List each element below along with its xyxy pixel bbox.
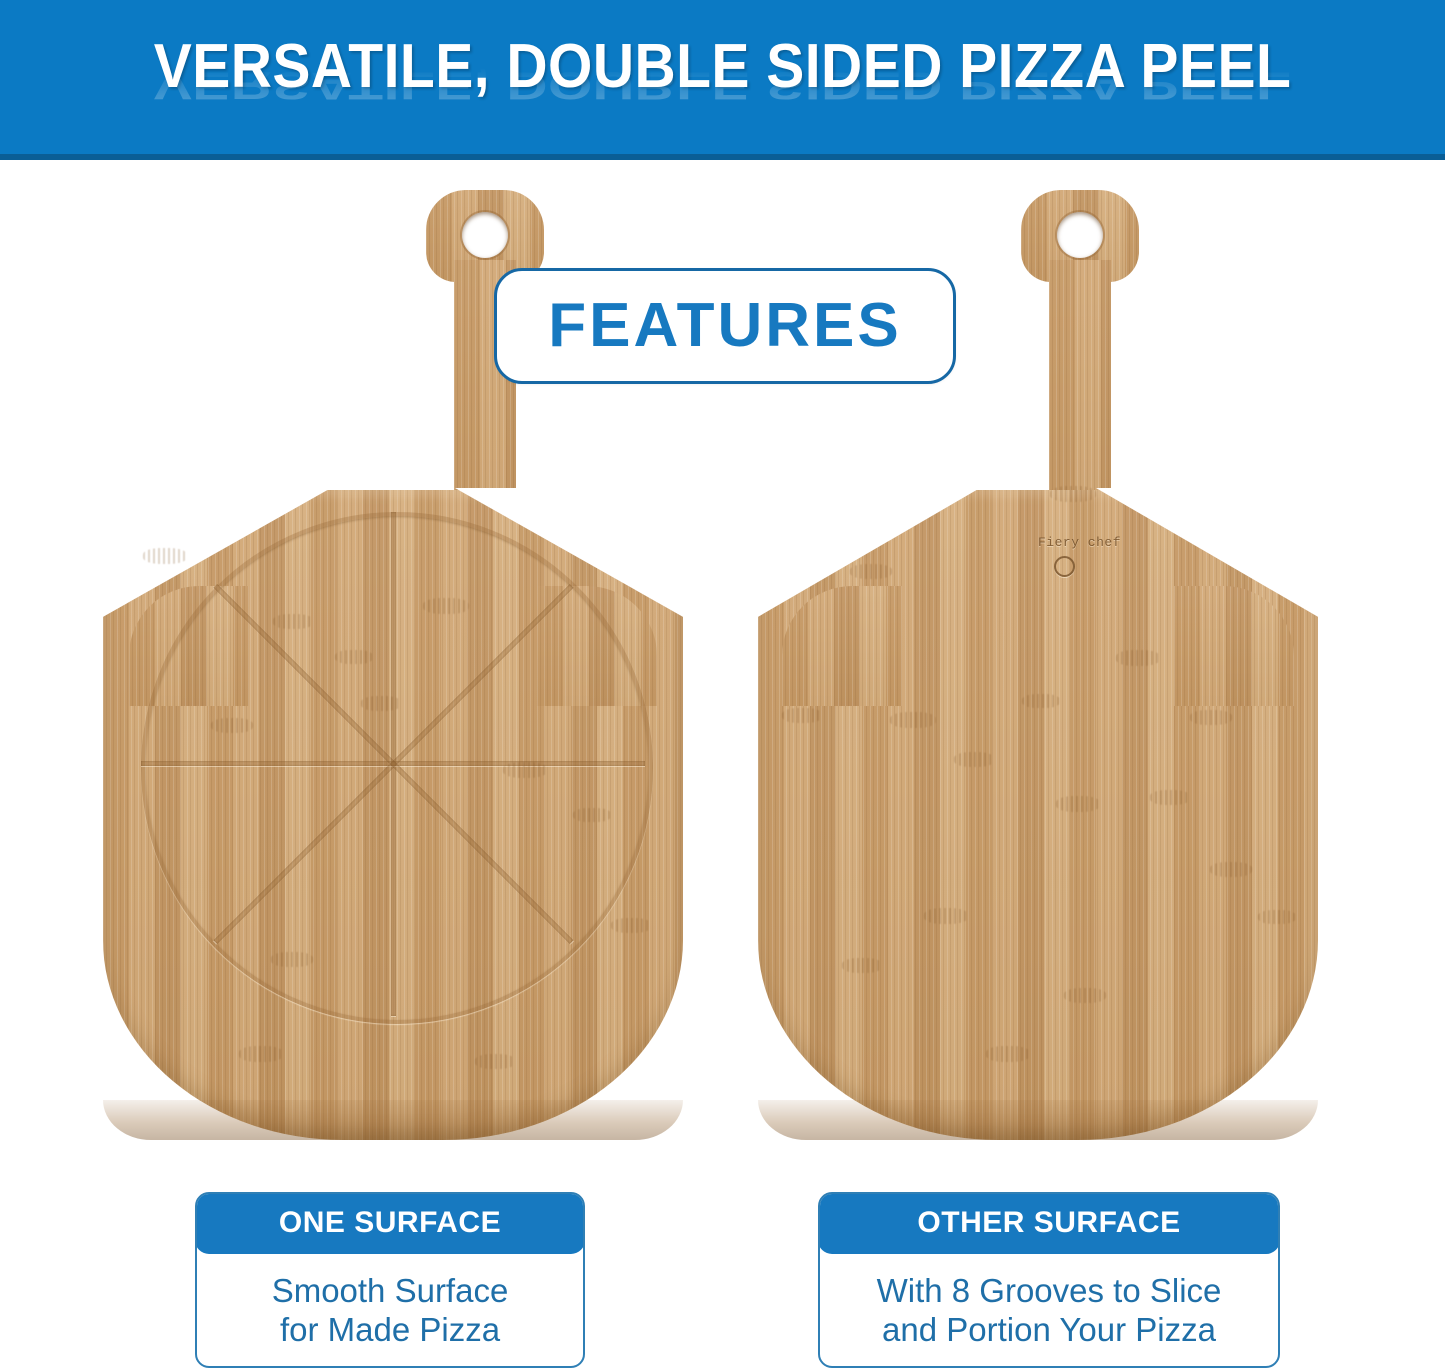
bamboo-node — [1150, 790, 1190, 805]
callout-other-surface-line2: and Portion Your Pizza — [882, 1311, 1216, 1348]
brand-engraving: Fiery chef — [1038, 535, 1121, 550]
hanging-hole-left — [462, 212, 508, 258]
bamboo-node — [271, 952, 313, 967]
bamboo-node — [475, 1054, 515, 1069]
bamboo-node — [1258, 910, 1296, 924]
callout-other-surface-heading: OTHER SURFACE — [818, 1192, 1280, 1254]
groove-radial-4 — [214, 584, 574, 944]
callout-other-surface-line1: With 8 Grooves to Slice — [877, 1272, 1222, 1309]
features-badge-label: FEATURES — [548, 295, 902, 357]
shoulder-fillet-left-a — [129, 586, 249, 706]
bamboo-node — [335, 650, 373, 664]
bamboo-node — [954, 752, 994, 767]
bamboo-node — [890, 712, 936, 728]
bamboo-node — [239, 1046, 283, 1062]
callout-one-surface: ONE SURFACE Smooth Surface for Made Pizz… — [195, 1192, 585, 1368]
bamboo-node — [782, 708, 822, 723]
groove-radial-3 — [214, 584, 574, 944]
page-title: VERSATILE, DOUBLE SIDED PIZZA PEEL — [58, 36, 1387, 98]
peel-blade-right: Fiery chef — [758, 490, 1318, 1140]
bamboo-node — [573, 808, 611, 822]
callout-one-surface-line1: Smooth Surface — [272, 1272, 509, 1309]
callout-one-surface-line2: for Made Pizza — [280, 1311, 500, 1348]
shoulder-fillet-right-a — [782, 586, 902, 706]
callout-one-surface-description: Smooth Surface for Made Pizza — [197, 1256, 583, 1366]
bamboo-node — [986, 1046, 1030, 1062]
banner-inner: VERSATILE, DOUBLE SIDED PIZZA PEEL VERSA… — [0, 0, 1445, 160]
features-badge: FEATURES — [494, 268, 956, 384]
peel-blade-left — [103, 490, 683, 1140]
bamboo-node — [924, 908, 968, 924]
bamboo-node — [1056, 796, 1100, 812]
callout-other-surface: OTHER SURFACE With 8 Grooves to Slice an… — [818, 1192, 1280, 1368]
bamboo-node — [1116, 650, 1160, 666]
bamboo-node — [1190, 710, 1232, 725]
bamboo-node — [423, 598, 469, 614]
shoulder-fillet-left-b — [537, 586, 657, 706]
header-banner: VERSATILE, DOUBLE SIDED PIZZA PEEL VERSA… — [0, 0, 1445, 160]
callout-one-surface-text: Smooth Surface for Made Pizza — [272, 1272, 509, 1350]
shoulder-fillet-right-b — [1174, 586, 1294, 706]
bamboo-node — [1210, 862, 1252, 877]
bamboo-node — [611, 918, 651, 933]
bamboo-node — [1064, 988, 1106, 1003]
callout-one-surface-heading: ONE SURFACE — [195, 1192, 585, 1254]
bamboo-node — [211, 718, 253, 733]
brand-logo-icon — [1054, 556, 1075, 577]
callout-other-surface-text: With 8 Grooves to Slice and Portion Your… — [877, 1272, 1222, 1350]
callout-other-surface-description: With 8 Grooves to Slice and Portion Your… — [820, 1256, 1278, 1366]
bamboo-node — [1022, 694, 1060, 708]
bamboo-node — [361, 696, 401, 711]
bamboo-node — [503, 762, 547, 778]
bamboo-node — [273, 614, 313, 629]
groove-radial-2 — [141, 761, 645, 766]
groove-radial-1 — [391, 512, 396, 1016]
blade-edge-right — [758, 1100, 1318, 1140]
hanging-hole-right — [1057, 212, 1103, 258]
bamboo-node — [850, 564, 892, 579]
bamboo-node — [842, 958, 882, 973]
blade-edge-left — [103, 1100, 683, 1140]
